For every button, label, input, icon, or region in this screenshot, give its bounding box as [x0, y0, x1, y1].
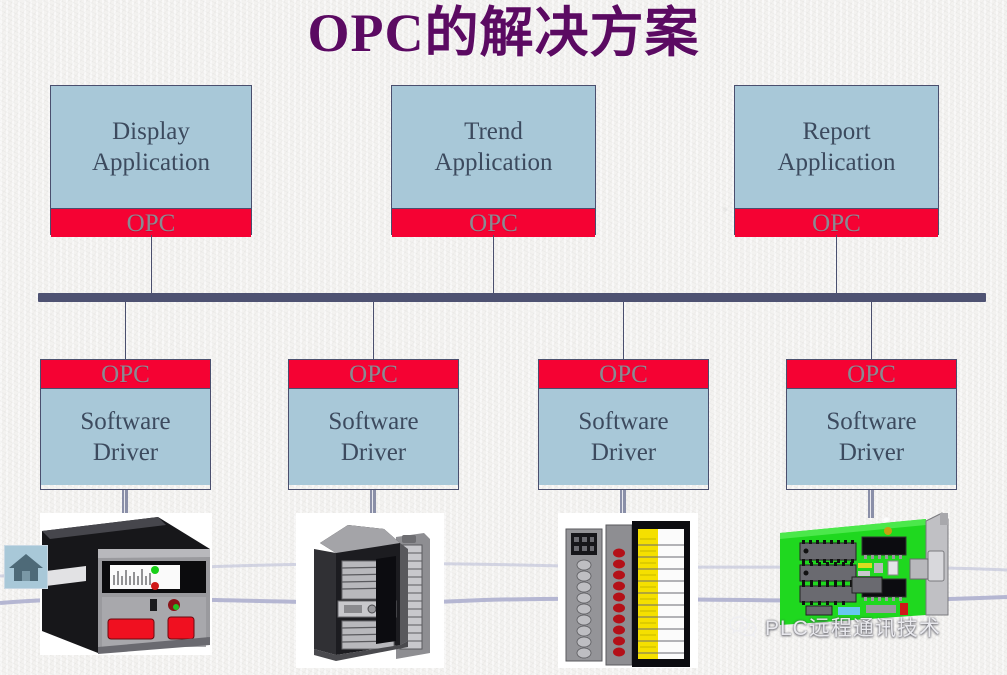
- report-application-body: Report Application: [735, 86, 938, 208]
- home-button[interactable]: [4, 545, 48, 589]
- software-driver-box-1[interactable]: OPC Software Driver: [40, 359, 211, 490]
- trend-application-line1: Trend: [464, 116, 523, 147]
- connector-bus-to-driver-2: [373, 302, 374, 360]
- software-driver-box-2[interactable]: OPC Software Driver: [288, 359, 459, 490]
- driver-1-opc-bar: OPC: [41, 360, 210, 388]
- driver-4-line2: Driver: [839, 437, 904, 468]
- slide-canvas: OPC的解决方案 Display Application OPC Trend A…: [0, 0, 1007, 675]
- driver-4-opc-bar: OPC: [787, 360, 956, 388]
- driver-2-opc-bar: OPC: [289, 360, 458, 388]
- driver-4-line1: Software: [826, 406, 916, 437]
- trend-application-opc-bar: OPC: [392, 208, 595, 237]
- wechat-icon: [728, 615, 758, 639]
- watermark-text: PLC远程通讯技术: [765, 612, 941, 642]
- connector-bus-to-driver-1: [125, 302, 126, 360]
- display-application-box[interactable]: Display Application OPC: [50, 85, 252, 235]
- display-application-opc-bar: OPC: [51, 208, 251, 237]
- trend-application-body: Trend Application: [392, 86, 595, 208]
- server-rack-device: [296, 513, 444, 668]
- panel-instrument-device: [40, 513, 212, 655]
- driver-1-body: Software Driver: [41, 388, 210, 485]
- io-terminal-module-device: [558, 513, 698, 668]
- report-application-box[interactable]: Report Application OPC: [734, 85, 939, 235]
- display-application-body: Display Application: [51, 86, 251, 208]
- display-application-line1: Display: [112, 116, 190, 147]
- software-driver-box-3[interactable]: OPC Software Driver: [538, 359, 709, 490]
- driver-2-body: Software Driver: [289, 388, 458, 485]
- page-title: OPC的解决方案: [0, 2, 1007, 64]
- trend-application-line2: Application: [434, 147, 552, 178]
- driver-1-line2: Driver: [93, 437, 158, 468]
- display-application-line2: Application: [92, 147, 210, 178]
- home-icon: [5, 546, 47, 588]
- driver-3-line2: Driver: [591, 437, 656, 468]
- driver-3-line1: Software: [578, 406, 668, 437]
- software-driver-box-4[interactable]: OPC Software Driver: [786, 359, 957, 490]
- connector-bus-to-driver-4: [871, 302, 872, 360]
- report-application-line2: Application: [777, 147, 895, 178]
- watermark: PLC远程通讯技术: [728, 612, 941, 642]
- connector-trend-to-bus: [493, 235, 494, 297]
- driver-2-line2: Driver: [341, 437, 406, 468]
- opc-network-bus: [38, 293, 986, 302]
- driver-2-line1: Software: [328, 406, 418, 437]
- driver-1-line1: Software: [80, 406, 170, 437]
- trend-application-box[interactable]: Trend Application OPC: [391, 85, 596, 235]
- driver-3-body: Software Driver: [539, 388, 708, 485]
- connector-report-to-bus: [836, 235, 837, 297]
- driver-3-opc-bar: OPC: [539, 360, 708, 388]
- driver-4-body: Software Driver: [787, 388, 956, 485]
- connector-display-to-bus: [151, 235, 152, 297]
- report-application-line1: Report: [802, 116, 870, 147]
- connector-bus-to-driver-3: [623, 302, 624, 360]
- report-application-opc-bar: OPC: [735, 208, 938, 237]
